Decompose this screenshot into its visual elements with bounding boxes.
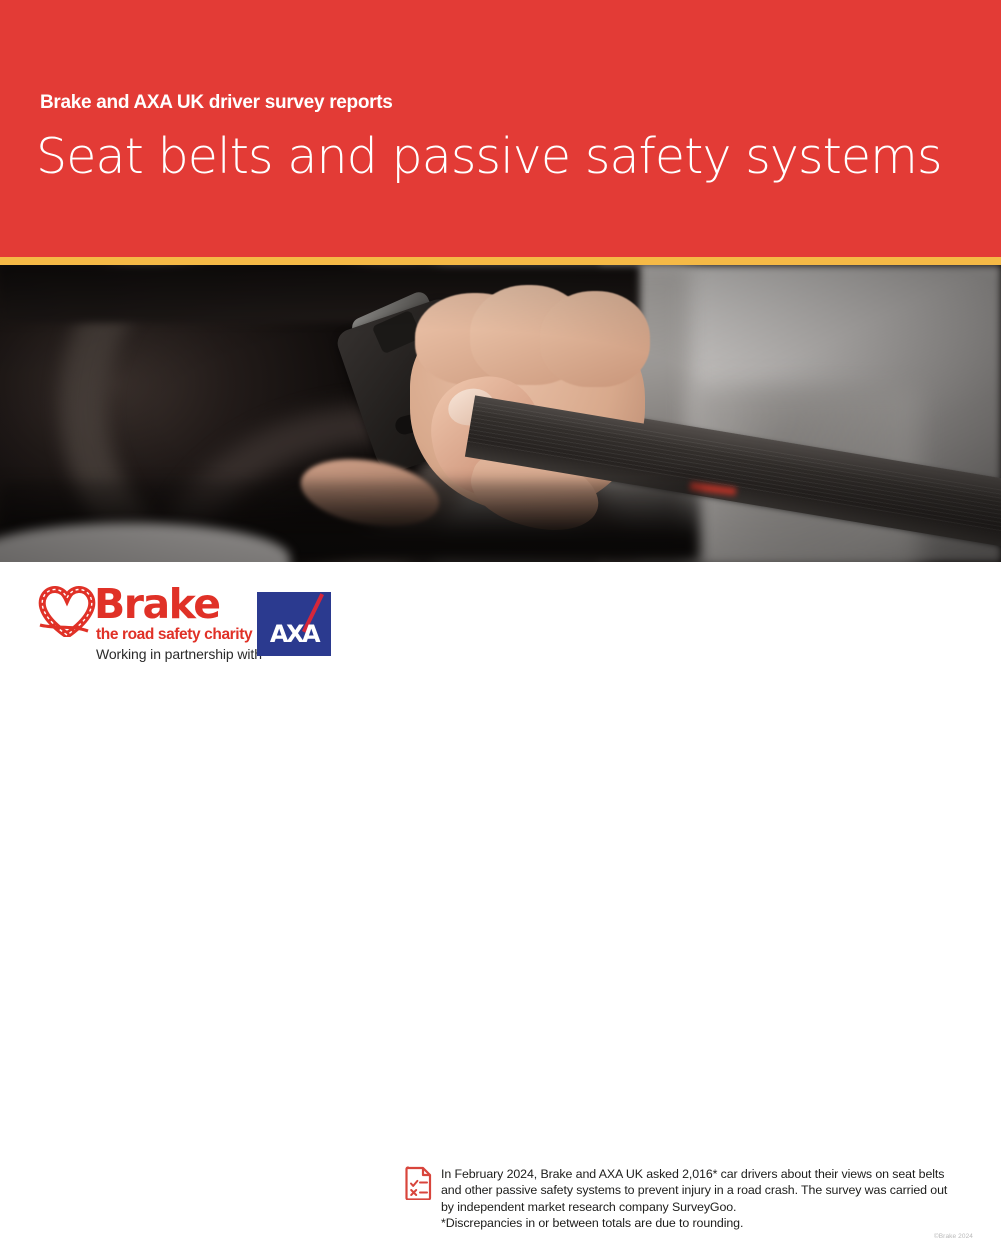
brake-logo[interactable]: Brake the road safety charity Working in… xyxy=(38,582,238,660)
brake-wordmark: Brake xyxy=(94,580,220,628)
footer: Brake the road safety charity Working in… xyxy=(0,562,1001,701)
heart-road-icon xyxy=(38,585,96,637)
page-title: Seat belts and passive safety systems xyxy=(36,128,942,185)
accent-divider xyxy=(0,257,1001,265)
report-cover-page: Brake and AXA UK driver survey reports S… xyxy=(0,0,1001,701)
partnership-label: Working in partnership with xyxy=(96,646,262,662)
header-banner: Brake and AXA UK driver survey reports S… xyxy=(0,0,1001,257)
axa-logo[interactable]: AXA xyxy=(257,592,331,656)
brake-tagline: the road safety charity xyxy=(96,626,252,644)
report-series-label: Brake and AXA UK driver survey reports xyxy=(40,92,393,114)
photo-vignette xyxy=(0,265,1001,562)
survey-note-paragraph-1: In February 2024, Brake and AXA UK asked… xyxy=(441,1166,956,1215)
survey-document-icon xyxy=(405,1166,433,1200)
axa-wordmark: AXA xyxy=(257,620,331,648)
survey-note: In February 2024, Brake and AXA UK asked… xyxy=(441,1166,956,1231)
hero-image xyxy=(0,265,1001,562)
survey-note-paragraph-2: *Discrepancies in or between totals are … xyxy=(441,1215,956,1231)
copyright-label: ©Brake 2024 xyxy=(934,1233,973,1240)
